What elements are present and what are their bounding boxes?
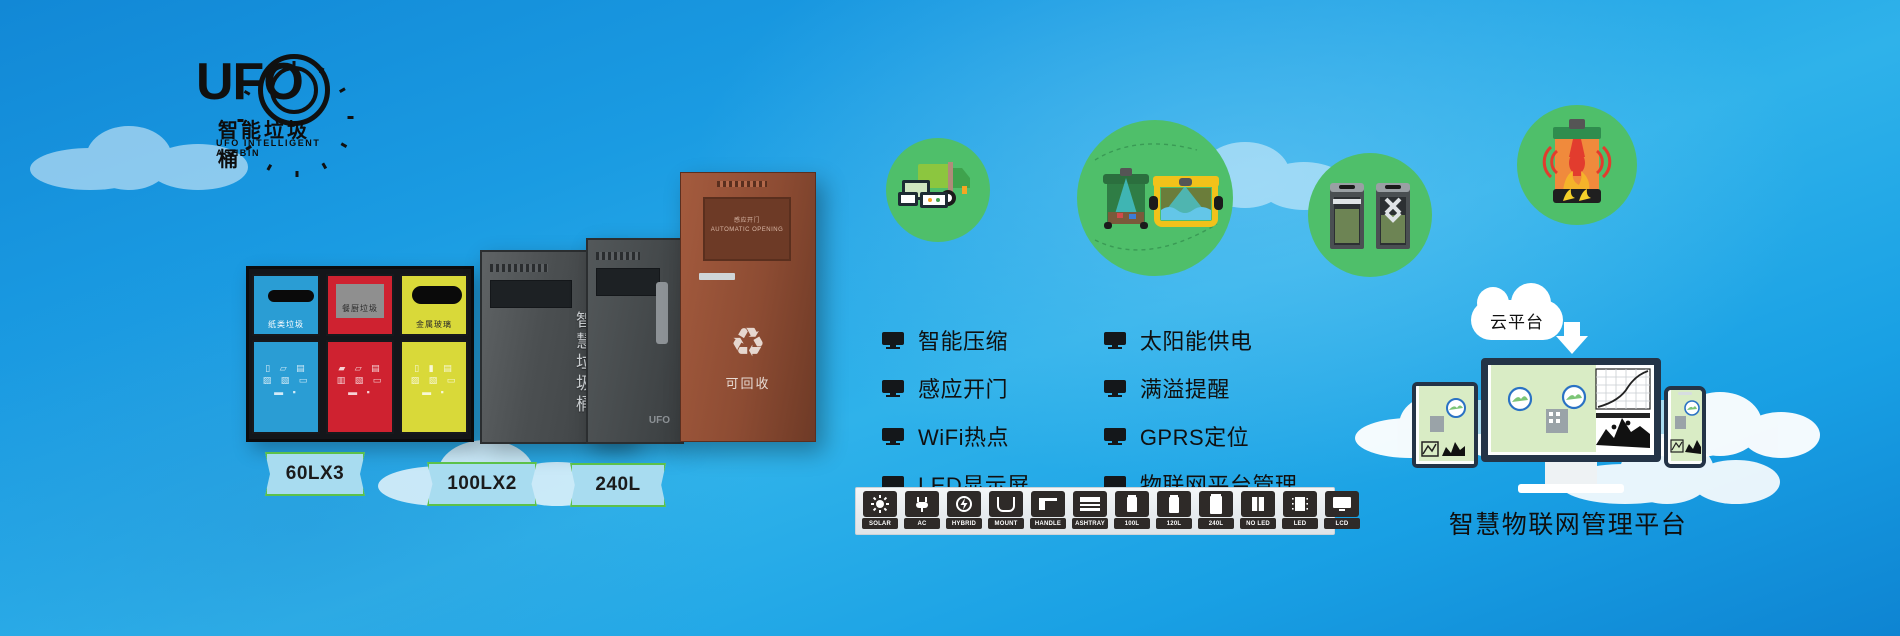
spec-label: LED [1282, 518, 1318, 529]
monitor-icon [1104, 380, 1126, 397]
led-icon [1283, 491, 1317, 517]
plug-icon [905, 491, 939, 517]
wall-mount-icon [989, 491, 1023, 517]
phone-dashboard-graphic [1668, 390, 1702, 464]
feature-column-right: 太阳能供电 满溢提醒 GPRS定位 物联网平台管理 [1104, 324, 1298, 500]
feature-item: 感应开门 [882, 372, 1030, 404]
monitor-icon [882, 332, 904, 349]
feature-item: 太阳能供电 [1104, 324, 1298, 356]
monitor-icon [1104, 332, 1126, 349]
spec-label: SOLAR [862, 518, 898, 529]
spec-label: HYBRID [946, 518, 982, 529]
spec-240l: 240L [1198, 491, 1234, 531]
spec-label: NO LED [1240, 518, 1276, 529]
fill-level-sensor-circle [1077, 120, 1233, 276]
feature-label: 感应开门 [918, 372, 1008, 404]
phone-device [1664, 386, 1706, 468]
fire-alarm-icon [1517, 105, 1637, 225]
lcd-icon [1325, 491, 1359, 517]
logo-english-name: UFO INTELLIGENT ASHBIN [216, 138, 324, 158]
bin-240l-icon [1199, 491, 1233, 517]
bin-display-screen [490, 280, 572, 308]
spec-label: MOUNT [988, 518, 1024, 529]
spec-led: LED [1282, 491, 1318, 531]
bin-sensor-window: 感应开门 AUTOMATIC OPENING [703, 197, 791, 261]
bin-120l-icon [1157, 491, 1191, 517]
feature-label: GPRS定位 [1140, 420, 1249, 452]
bin-side-slot [656, 282, 668, 344]
capacity-banner-100lx2: 100LX2 [427, 462, 537, 506]
compaction-bins-icon [1308, 153, 1432, 277]
ashtray-icon [1073, 491, 1107, 517]
brand-logo: UFO 智能垃圾桶 UFO INTELLIGENT ASHBIN [196, 52, 324, 152]
bin-100l-icon [1115, 491, 1149, 517]
bin-graphic: ▯ ▮ ▤▨ ▧ ▭▬ ▪ [402, 362, 466, 398]
monitor-dashboard-graphic [1488, 365, 1654, 455]
spec-label: 120L [1156, 518, 1192, 529]
bin-compartment-kitchen: 餐厨垃圾 ▰ ▱ ▤▥ ▧ ▭▬ ▪ [326, 274, 394, 434]
spec-mount: MOUNT [988, 491, 1024, 531]
feature-column-left: 智能压缩 感应开门 WiFi热点 LED显示屏 [882, 324, 1030, 500]
brown-recycle-bin: 感应开门 AUTOMATIC OPENING ♻ 可回收 [680, 172, 816, 442]
spec-no-led: NO LED [1240, 491, 1276, 531]
handle-icon [1031, 491, 1065, 517]
vent-grill [596, 252, 640, 260]
sun-icon [863, 491, 897, 517]
fire-alarm-circle [1517, 105, 1637, 225]
monitor-base [1518, 484, 1624, 493]
monitor-icon [882, 380, 904, 397]
spec-solar: SOLAR [862, 491, 898, 531]
bin-compartment-metal-glass: 金属玻璃 ▯ ▮ ▤▨ ▧ ▭▬ ▪ [400, 274, 468, 434]
bin-display-screen [596, 268, 660, 296]
spec-icon-strip: SOLAR AC HYBRID MOUNT HAND [855, 487, 1335, 535]
spec-label: LCD [1324, 518, 1360, 529]
bin-label-1: 餐厨垃圾 [328, 303, 392, 314]
vent-grill [490, 264, 548, 272]
feature-item: GPRS定位 [1104, 420, 1298, 452]
bin-logo-mark: UFO [649, 415, 670, 426]
feature-item: 智能压缩 [882, 324, 1030, 356]
platform-title: 智慧物联网管理平台 [1443, 505, 1693, 541]
bin-label-0: 纸类垃圾 [254, 319, 318, 330]
window-line-1: 感应开门 [734, 218, 760, 224]
bin-graphic: ▯ ▱ ▤▨ ▧ ▭▬ ▪ [254, 362, 318, 398]
no-led-icon [1241, 491, 1275, 517]
bin-label-2: 金属玻璃 [402, 319, 466, 330]
feature-item: WiFi热点 [882, 420, 1030, 452]
tablet-dashboard-graphic [1416, 386, 1474, 464]
feature-list: 智能压缩 感应开门 WiFi热点 LED显示屏 太阳能供电 满溢提醒 [882, 324, 1297, 500]
bin-window-text: 感应开门 AUTOMATIC OPENING [705, 217, 789, 235]
three-compartment-bin: 纸类垃圾 ▯ ▱ ▤▨ ▧ ▭▬ ▪ 餐厨垃圾 ▰ ▱ ▤▥ ▧ ▭▬ ▪ 金属… [246, 266, 474, 442]
collection-truck-icon [886, 138, 990, 242]
cloud-platform-badge: 云平台 [1471, 300, 1563, 340]
feature-label: 智能压缩 [918, 324, 1008, 356]
desktop-monitor [1481, 358, 1661, 462]
bin-compartment-paper: 纸类垃圾 ▯ ▱ ▤▨ ▧ ▭▬ ▪ [252, 274, 320, 434]
spec-label: AC [904, 518, 940, 529]
bin-name-plate [699, 273, 735, 280]
spec-label: 100L [1114, 518, 1150, 529]
spec-ac: AC [904, 491, 940, 531]
smart-bin-grey-right: UFO [586, 238, 684, 444]
download-arrow-icon [1556, 336, 1588, 354]
monitor-icon [1104, 428, 1126, 445]
feature-label: 满溢提醒 [1140, 372, 1230, 404]
spec-120l: 120L [1156, 491, 1192, 531]
capacity-banner-60lx3: 60LX3 [265, 452, 365, 496]
collection-truck-circle [886, 138, 990, 242]
spec-label: 240L [1198, 518, 1234, 529]
hybrid-bolt-icon [947, 491, 981, 517]
feature-label: WiFi热点 [918, 420, 1009, 452]
window-line-2: AUTOMATIC OPENING [711, 227, 784, 233]
tablet-device [1412, 382, 1478, 468]
monitor-stand [1545, 462, 1597, 484]
spec-label: HANDLE [1030, 518, 1066, 529]
feature-label: 太阳能供电 [1140, 324, 1253, 356]
recycle-symbol-icon: ♻ [681, 323, 815, 363]
spec-lcd: LCD [1324, 491, 1360, 531]
vent-grill [717, 181, 767, 187]
spec-ashtray: ASHTRAY [1072, 491, 1108, 531]
monitor-icon [882, 428, 904, 445]
fill-level-sensor-icon [1077, 120, 1233, 276]
bin-graphic: ▰ ▱ ▤▥ ▧ ▭▬ ▪ [328, 362, 392, 398]
spec-label: ASHTRAY [1072, 518, 1108, 529]
promo-banner: UFO 智能垃圾桶 UFO INTELLIGENT ASHBIN 纸类垃圾 [0, 0, 1900, 636]
recycle-label: 可回收 [681, 373, 815, 392]
cloud-platform-label: 云平台 [1490, 308, 1544, 333]
capacity-banner-240l: 240L [570, 463, 666, 507]
compaction-bins-circle [1308, 153, 1432, 277]
spec-handle: HANDLE [1030, 491, 1066, 531]
feature-item: 满溢提醒 [1104, 372, 1298, 404]
spec-hybrid: HYBRID [946, 491, 982, 531]
spec-100l: 100L [1114, 491, 1150, 531]
